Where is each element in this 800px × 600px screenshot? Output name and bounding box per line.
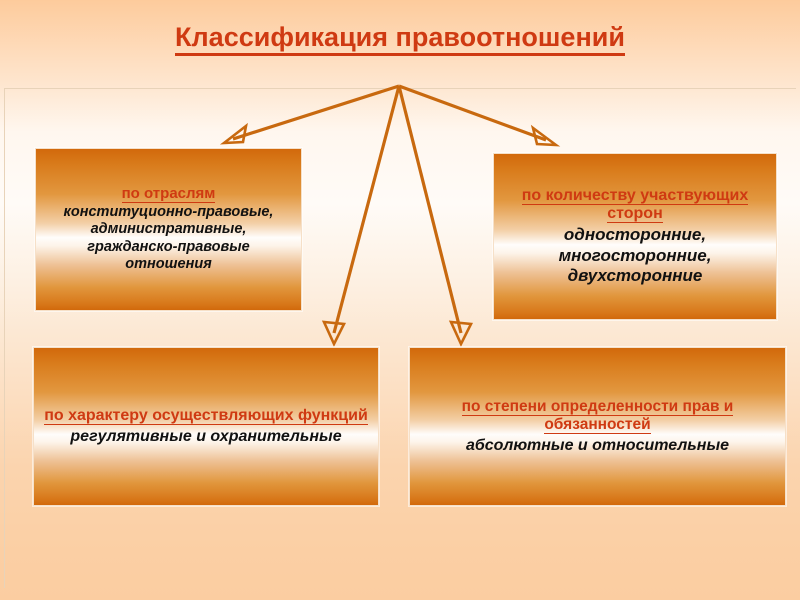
connector-to-parties	[399, 86, 546, 140]
arrowhead-parties	[533, 128, 556, 145]
page-title: Классификация правоотношений	[0, 22, 800, 53]
category-box-character-body: регулятивные и охранительные	[70, 427, 341, 446]
category-box-character[interactable]: по характеру осуществляющих функций регу…	[33, 347, 379, 506]
connector-to-certainty	[399, 86, 461, 333]
arrowhead-certainty	[451, 322, 471, 344]
category-box-parties-heading: по количеству участвующих сторон	[504, 187, 766, 225]
category-box-certainty[interactable]: по степени определенности прав и обязанн…	[409, 347, 786, 506]
category-box-branches-body: конституционно-правовые, административны…	[46, 204, 291, 274]
arrowhead-branches	[224, 126, 246, 143]
slide-canvas: Классификация правоотношений по отраслям…	[0, 0, 800, 600]
category-box-branches-heading: по отраслям	[122, 185, 216, 203]
category-box-character-heading: по характеру осуществляющих функций	[44, 407, 368, 426]
connector-to-branches	[233, 86, 399, 139]
page-title-text: Классификация правоотношений	[175, 22, 625, 56]
connector-to-character	[334, 86, 399, 333]
category-box-certainty-heading: по степени определенности прав и обязанн…	[420, 398, 775, 435]
category-box-parties-body: односторонние, многосторонние, двухсторо…	[504, 225, 766, 286]
category-box-parties[interactable]: по количеству участвующих сторон односто…	[493, 153, 777, 320]
category-box-certainty-body: абсолютные и относительные	[466, 436, 729, 455]
category-box-branches[interactable]: по отраслям конституционно-правовые, адм…	[35, 148, 302, 311]
arrowhead-character	[324, 322, 344, 344]
